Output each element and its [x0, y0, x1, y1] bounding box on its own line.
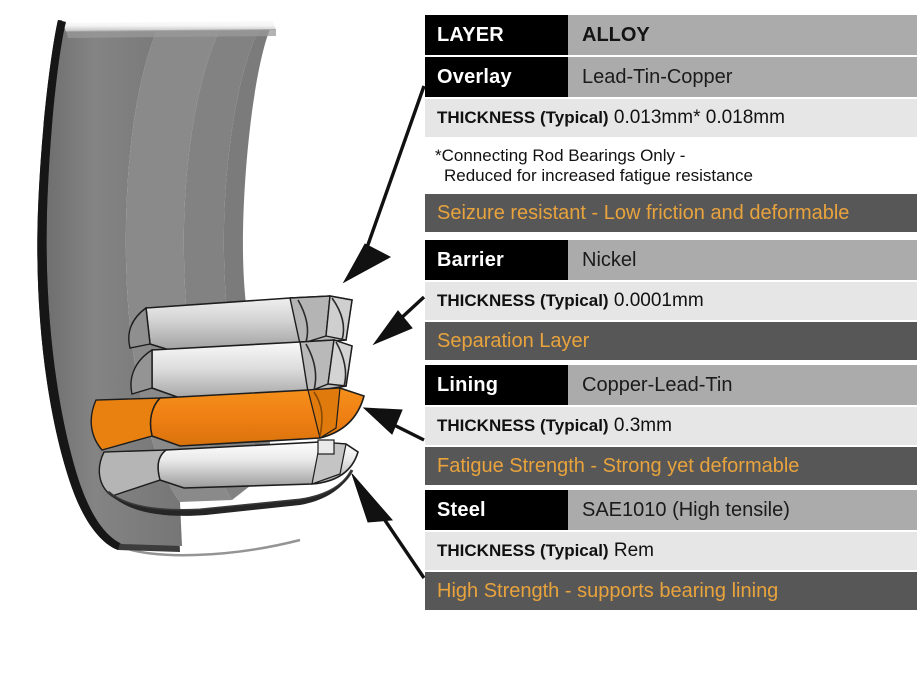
thickness-value-barrier: 0.0001mm: [614, 290, 704, 311]
thickness-row-barrier: THICKNESS (Typical) 0.0001mm: [425, 282, 917, 320]
overlay-footnote-line2: Reduced for increased fatigue resistance: [435, 166, 907, 186]
thickness-value-overlay: 0.013mm* 0.018mm: [614, 107, 785, 128]
thickness-row-overlay: THICKNESS (Typical) 0.013mm* 0.018mm: [425, 99, 917, 137]
table-row-steel: Steel SAE1010 (High tensile): [425, 490, 917, 530]
bearing-illustration: [0, 0, 425, 693]
table-row-overlay: Overlay Lead-Tin-Copper: [425, 57, 917, 97]
layer-name-overlay: Overlay: [425, 57, 568, 97]
bearing-layer-diagram: LAYER ALLOY Overlay Lead-Tin-Copper THIC…: [0, 0, 917, 693]
alloy-value-barrier: Nickel: [568, 240, 917, 280]
layer-name-steel: Steel: [425, 490, 568, 530]
section-gap: [425, 232, 917, 240]
description-lining: Fatigue Strength - Strong yet deformable: [425, 447, 917, 485]
overlay-footnote: *Connecting Rod Bearings Only - Reduced …: [425, 139, 917, 194]
thickness-value-lining: 0.3mm: [614, 415, 672, 436]
thickness-row-lining: THICKNESS (Typical) 0.3mm: [425, 407, 917, 445]
description-overlay: Seizure resistant - Low friction and def…: [425, 194, 917, 232]
table-row-barrier: Barrier Nickel: [425, 240, 917, 280]
thickness-label-steel: THICKNESS (Typical): [437, 541, 609, 560]
alloy-value-lining: Copper-Lead-Tin: [568, 365, 917, 405]
description-barrier: Separation Layer: [425, 322, 917, 360]
header-layer-cell: LAYER: [425, 15, 568, 55]
thickness-label-lining: THICKNESS (Typical): [437, 416, 609, 435]
layer-name-barrier: Barrier: [425, 240, 568, 280]
description-steel: High Strength - supports bearing lining: [425, 572, 917, 610]
layer-name-lining: Lining: [425, 365, 568, 405]
overlay-footnote-line1: *Connecting Rod Bearings Only -: [435, 146, 685, 165]
thickness-value-steel: Rem: [614, 540, 654, 561]
alloy-value-overlay: Lead-Tin-Copper: [568, 57, 917, 97]
alloy-value-steel: SAE1010 (High tensile): [568, 490, 917, 530]
table-row-lining: Lining Copper-Lead-Tin: [425, 365, 917, 405]
table-header-row: LAYER ALLOY: [425, 15, 917, 55]
layer-specification-table: LAYER ALLOY Overlay Lead-Tin-Copper THIC…: [425, 15, 917, 610]
thickness-label-barrier: THICKNESS (Typical): [437, 291, 609, 310]
header-alloy-cell: ALLOY: [568, 15, 917, 55]
thickness-row-steel: THICKNESS (Typical) Rem: [425, 532, 917, 570]
thickness-label-overlay: THICKNESS (Typical): [437, 108, 609, 127]
